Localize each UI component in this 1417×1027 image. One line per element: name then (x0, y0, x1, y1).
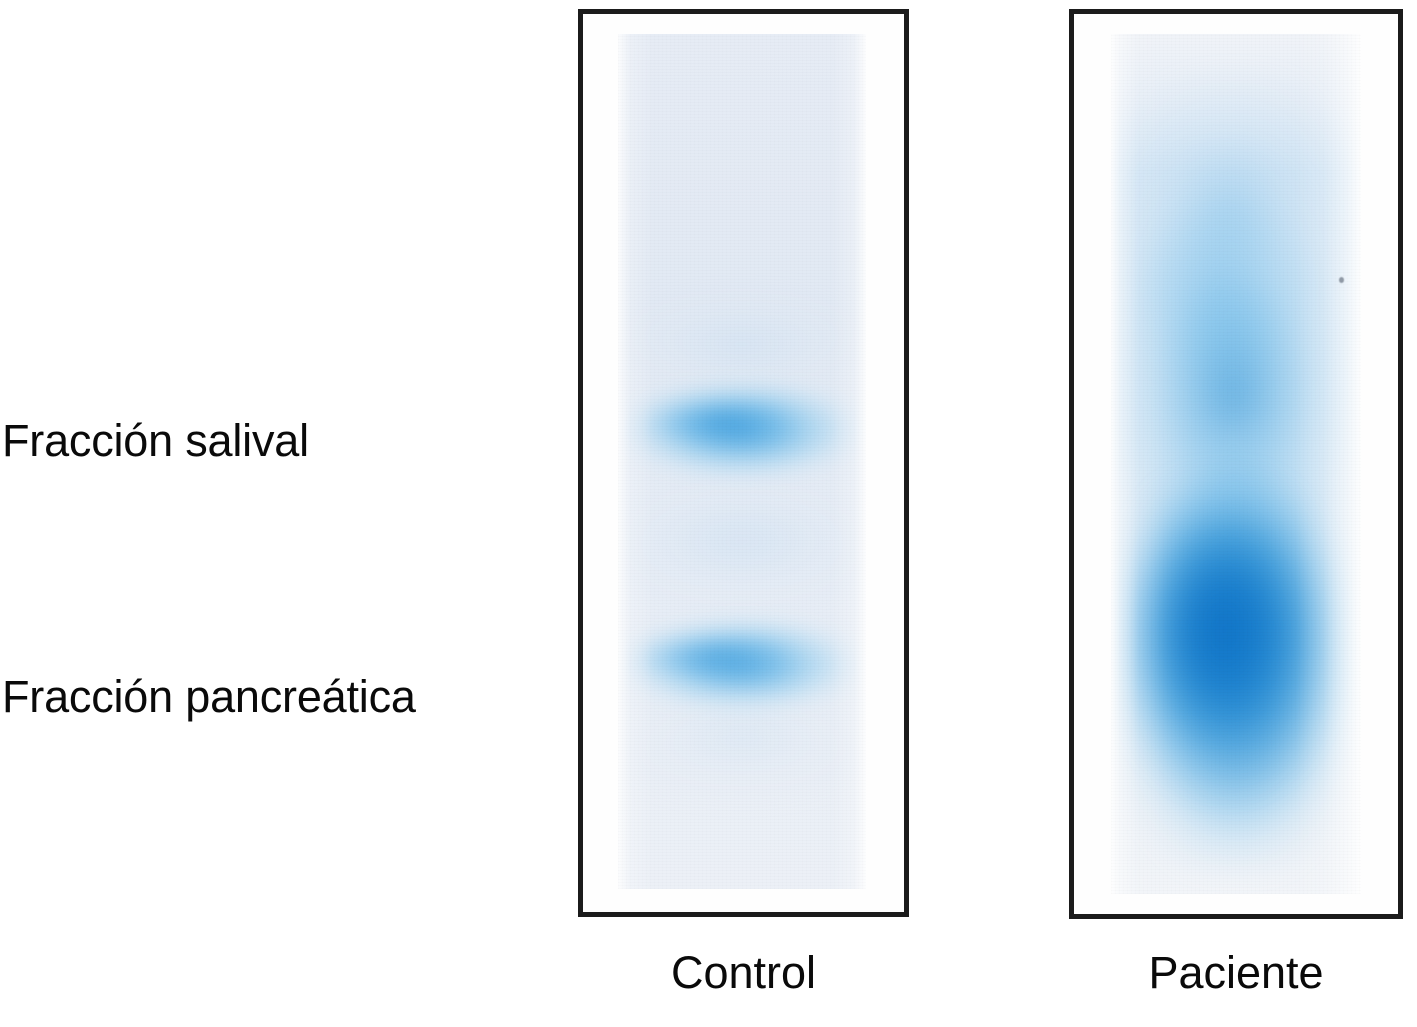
row-label-pancreatic-fraction: Fracción pancreática (2, 674, 416, 719)
column-caption-control: Control (578, 950, 909, 995)
gel-panel-patient (1069, 9, 1403, 919)
gel-background-wash-control (618, 34, 866, 889)
scan-speck-artifact-icon (1339, 277, 1344, 283)
row-label-salivary-fraction: Fracción salival (2, 418, 309, 463)
gel-panel-inner-control (583, 14, 904, 912)
gel-background-wash-patient (1111, 34, 1361, 894)
gel-strip-control (618, 34, 866, 889)
gel-panel-control (578, 9, 909, 917)
gel-strip-patient (1111, 34, 1361, 894)
column-caption-patient: Paciente (1069, 950, 1403, 995)
gel-panel-inner-patient (1074, 14, 1398, 914)
